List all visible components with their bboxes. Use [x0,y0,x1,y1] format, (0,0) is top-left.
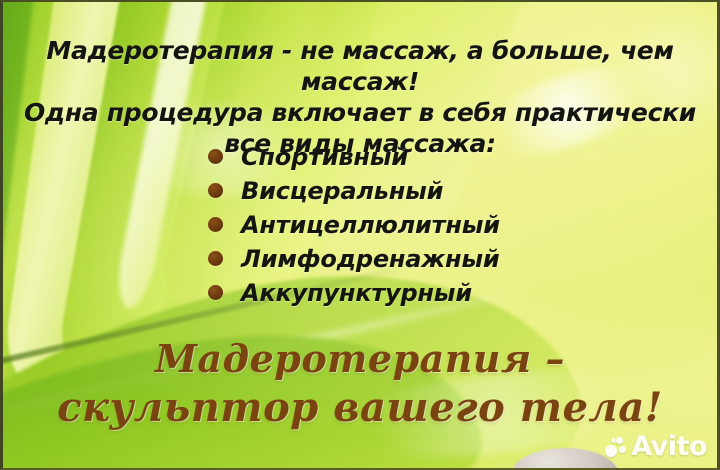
slogan-line-2: скульптор вашего тела! [3,383,717,433]
intro-line-2: Одна процедура включает в себя практичес… [3,97,717,128]
advertisement-poster: Мадеротерапия - не массаж, а больше, чем… [0,0,720,470]
list-item: Лимфодренажный [208,242,500,275]
avito-wordmark: Avito [631,433,707,460]
list-item: Спортивный [208,140,500,173]
list-item-label: Висцеральный [241,177,443,205]
massage-types-list: Спортивный Висцеральный Антицеллюлитный … [208,140,500,310]
slogan: Мадеротерапия – скульптор вашего тела! [3,335,717,433]
intro-line-1: Мадеротерапия - не массаж, а больше, чем… [3,35,717,97]
bullet-icon [208,285,223,300]
list-item: Висцеральный [208,174,500,207]
avito-dots-icon [605,437,626,457]
avito-watermark: Avito [605,433,707,460]
list-item: Антицеллюлитный [208,208,500,241]
list-item-label: Антицеллюлитный [241,211,500,239]
list-item-label: Аккупунктурный [241,279,472,307]
list-item-label: Лимфодренажный [241,245,499,273]
bullet-icon [208,183,223,198]
bullet-icon [208,251,223,266]
poster-content: Мадеротерапия - не массаж, а больше, чем… [3,2,717,468]
bullet-icon [208,149,223,164]
bullet-icon [208,217,223,232]
list-item-label: Спортивный [241,143,408,171]
list-item: Аккупунктурный [208,276,500,309]
slogan-line-1: Мадеротерапия – [3,335,717,383]
